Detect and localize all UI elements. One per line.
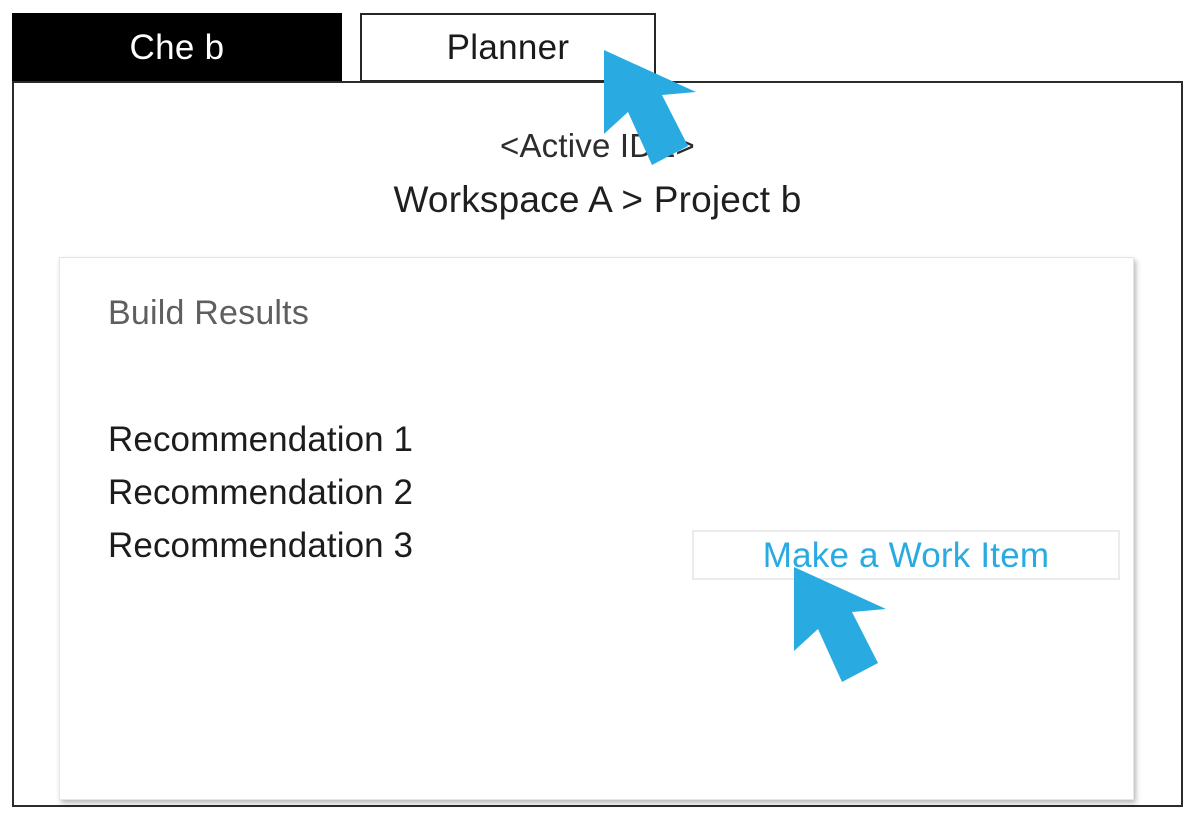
tab-che-b[interactable]: Che b <box>12 13 342 82</box>
tab-planner-label: Planner <box>447 30 570 65</box>
screen-root: Che b Planner <Active IDE> Workspace A >… <box>0 0 1200 824</box>
make-work-item-button-label: Make a Work Item <box>763 538 1050 573</box>
active-ide-label: <Active IDE> <box>14 127 1181 166</box>
tab-planner[interactable]: Planner <box>360 13 656 82</box>
tab-che-b-label: Che b <box>130 30 225 65</box>
make-work-item-button[interactable]: Make a Work Item <box>692 530 1120 580</box>
card-title: Build Results <box>108 294 309 333</box>
breadcrumb: Workspace A > Project b <box>14 178 1181 222</box>
list-item[interactable]: Recommendation 2 <box>108 466 628 519</box>
header-block: <Active IDE> Workspace A > Project b <box>14 127 1181 222</box>
main-panel: <Active IDE> Workspace A > Project b Bui… <box>12 81 1183 807</box>
tab-strip: Che b Planner <box>0 0 1200 82</box>
list-item[interactable]: Recommendation 3 <box>108 519 628 572</box>
build-results-card: Build Results Recommendation 1 Recommend… <box>59 257 1134 800</box>
recommendation-list: Recommendation 1 Recommendation 2 Recomm… <box>108 413 628 572</box>
list-item[interactable]: Recommendation 1 <box>108 413 628 466</box>
